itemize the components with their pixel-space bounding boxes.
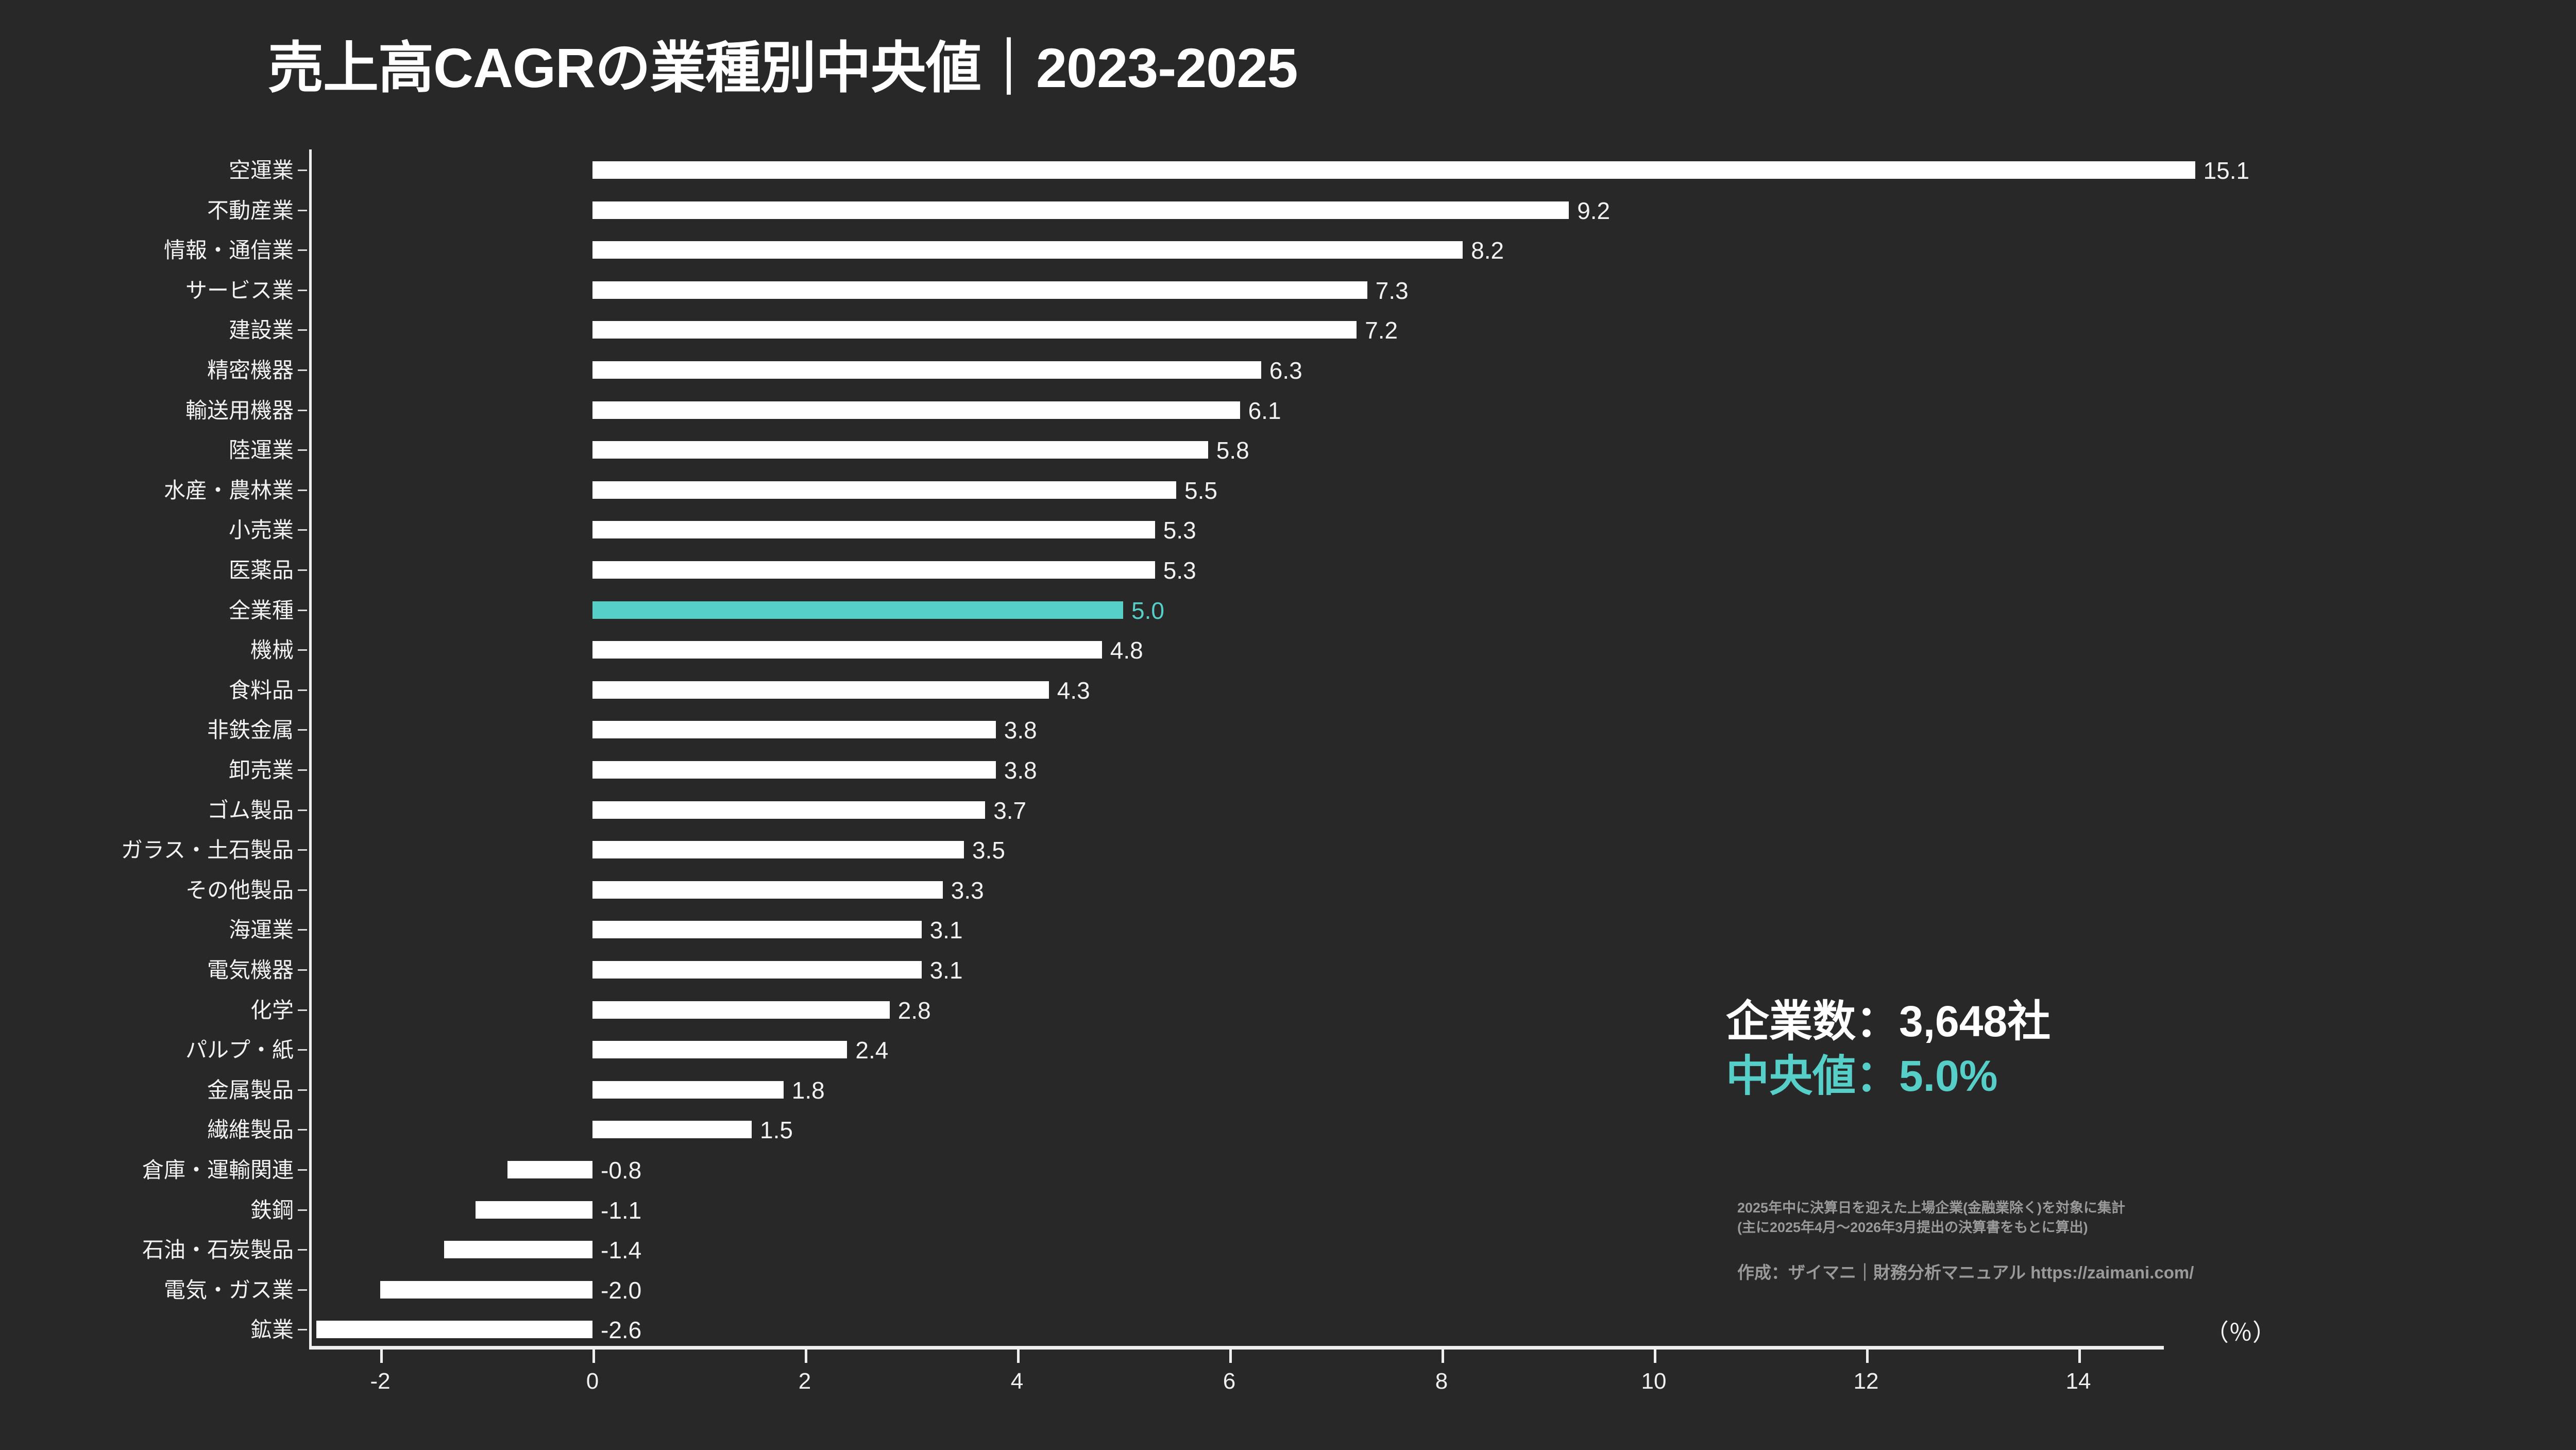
category-label: サービス業 bbox=[0, 271, 294, 311]
x-tick-mark bbox=[805, 1350, 807, 1363]
y-tick-mark bbox=[298, 449, 307, 451]
bar-value-label: 3.1 bbox=[930, 958, 963, 982]
bar-value-label: -2.6 bbox=[601, 1318, 641, 1342]
bar bbox=[592, 241, 1463, 259]
bar-value-label: 3.3 bbox=[951, 879, 984, 902]
bar-value-label: -1.1 bbox=[601, 1199, 641, 1222]
bar-value-label: 5.0 bbox=[1131, 599, 1164, 622]
bar-value-label: 5.3 bbox=[1163, 559, 1196, 582]
bar-value-label: 7.2 bbox=[1365, 318, 1398, 342]
bar-value-label: 5.8 bbox=[1216, 439, 1249, 462]
bar-value-label: 1.5 bbox=[760, 1118, 793, 1142]
bar-value-label: 15.1 bbox=[2204, 159, 2250, 182]
y-tick-mark bbox=[298, 849, 307, 851]
bar bbox=[592, 1041, 847, 1058]
y-tick-mark bbox=[298, 210, 307, 211]
y-tick-mark bbox=[298, 969, 307, 971]
category-label: 食料品 bbox=[0, 670, 294, 711]
bar bbox=[592, 401, 1240, 419]
bar-value-label: 3.8 bbox=[1004, 758, 1037, 782]
credit-line: 作成：ザイマニ｜財務分析マニュアル https://zaimani.com/ bbox=[1737, 1259, 2194, 1284]
y-tick-mark bbox=[298, 769, 307, 771]
y-tick-mark bbox=[298, 889, 307, 891]
bar-value-label: 2.4 bbox=[855, 1038, 888, 1062]
y-tick-mark bbox=[298, 329, 307, 331]
bar-row: 卸売業3.8 bbox=[0, 750, 2576, 790]
bar-value-label: 3.8 bbox=[1004, 718, 1037, 742]
category-label: パルプ・紙 bbox=[0, 1030, 294, 1070]
y-tick-mark bbox=[298, 569, 307, 571]
y-tick-mark bbox=[298, 529, 307, 531]
bar bbox=[592, 321, 1357, 339]
bar bbox=[507, 1161, 592, 1178]
bar-row: 医薬品5.3 bbox=[0, 550, 2576, 591]
bar-row: 不動産業9.2 bbox=[0, 191, 2576, 231]
bar-row: 海運業3.1 bbox=[0, 910, 2576, 950]
bar-row: ガラス・土石製品3.5 bbox=[0, 830, 2576, 870]
x-tick-label: 14 bbox=[2037, 1369, 2120, 1394]
x-tick-label: 2 bbox=[764, 1369, 846, 1394]
bar-value-label: 4.8 bbox=[1110, 638, 1143, 662]
y-tick-mark bbox=[298, 1169, 307, 1171]
bar-value-label: 8.2 bbox=[1471, 239, 1504, 262]
category-label: 精密機器 bbox=[0, 350, 294, 391]
bar-row: 全業種5.0 bbox=[0, 591, 2576, 631]
x-tick-mark bbox=[592, 1350, 595, 1363]
y-tick-mark bbox=[298, 1249, 307, 1251]
category-label: 情報・通信業 bbox=[0, 230, 294, 271]
bar-value-label: -2.0 bbox=[601, 1278, 641, 1302]
bar bbox=[592, 641, 1102, 659]
bar bbox=[592, 681, 1049, 699]
bar-value-label: 1.8 bbox=[792, 1078, 825, 1102]
bar bbox=[592, 201, 1569, 219]
category-label: 不動産業 bbox=[0, 191, 294, 231]
bar-row: 機械4.8 bbox=[0, 630, 2576, 670]
y-tick-mark bbox=[298, 249, 307, 251]
y-tick-mark bbox=[298, 810, 307, 811]
bar-value-label: 6.1 bbox=[1248, 399, 1281, 423]
bar-row: 情報・通信業8.2 bbox=[0, 230, 2576, 271]
x-tick-mark bbox=[1442, 1350, 1444, 1363]
bar-row: 小売業5.3 bbox=[0, 510, 2576, 550]
category-label: 空運業 bbox=[0, 150, 294, 191]
bar-row: ゴム製品3.7 bbox=[0, 790, 2576, 831]
bar-row: 精密機器6.3 bbox=[0, 350, 2576, 391]
median-stat: 中央値：5.0% bbox=[1726, 1052, 2473, 1100]
category-label: 石油・石炭製品 bbox=[0, 1230, 294, 1270]
category-label: 鉄鋼 bbox=[0, 1190, 294, 1230]
category-label: 輸送用機器 bbox=[0, 391, 294, 431]
bar bbox=[476, 1201, 592, 1219]
bar-value-label: 3.5 bbox=[972, 838, 1005, 862]
bar-value-label: 3.1 bbox=[930, 918, 963, 942]
y-tick-mark bbox=[298, 1329, 307, 1330]
bar bbox=[592, 441, 1208, 459]
bar bbox=[592, 1121, 752, 1138]
category-label: その他製品 bbox=[0, 870, 294, 911]
category-label: 金属製品 bbox=[0, 1070, 294, 1110]
bar bbox=[592, 801, 985, 819]
bar bbox=[592, 921, 922, 938]
bar-row: 鉄鋼-1.1 bbox=[0, 1190, 2576, 1230]
x-tick-mark bbox=[1654, 1350, 1656, 1363]
summary-stats: 企業数：3,648社 中央値：5.0% bbox=[1726, 997, 2473, 1100]
bar-row: 非鉄金属3.8 bbox=[0, 710, 2576, 750]
bar bbox=[592, 961, 922, 979]
y-tick-mark bbox=[298, 929, 307, 931]
bar-value-label: -0.8 bbox=[601, 1158, 641, 1182]
x-tick-mark bbox=[1229, 1350, 1232, 1363]
category-label: 電気・ガス業 bbox=[0, 1270, 294, 1310]
bar-row: 輸送用機器6.1 bbox=[0, 391, 2576, 431]
y-tick-mark bbox=[298, 610, 307, 611]
bar-row: 鉱業-2.6 bbox=[0, 1310, 2576, 1350]
bar-row: 倉庫・運輸関連-0.8 bbox=[0, 1150, 2576, 1190]
bar-value-label: 7.3 bbox=[1376, 279, 1409, 302]
bar-row: 繊維製品1.5 bbox=[0, 1110, 2576, 1150]
y-tick-mark bbox=[298, 1009, 307, 1011]
category-label: 建設業 bbox=[0, 310, 294, 350]
x-tick-label: 6 bbox=[1188, 1369, 1270, 1394]
bar bbox=[592, 761, 996, 779]
bar bbox=[592, 281, 1367, 299]
x-tick-mark bbox=[2078, 1350, 2081, 1363]
bar bbox=[592, 561, 1155, 579]
y-tick-mark bbox=[298, 649, 307, 651]
category-label: 全業種 bbox=[0, 591, 294, 631]
y-tick-mark bbox=[298, 729, 307, 731]
bar bbox=[592, 521, 1155, 538]
bar bbox=[592, 1081, 784, 1099]
bar-row: 食料品4.3 bbox=[0, 670, 2576, 711]
bar-row: 水産・農林業5.5 bbox=[0, 470, 2576, 511]
y-tick-mark bbox=[298, 689, 307, 691]
bar-value-label: 5.3 bbox=[1163, 518, 1196, 542]
y-tick-mark bbox=[298, 490, 307, 491]
bar bbox=[592, 721, 996, 738]
bar-row: 建設業7.2 bbox=[0, 310, 2576, 350]
x-tick-mark bbox=[1866, 1350, 1869, 1363]
x-tick-label: 4 bbox=[976, 1369, 1058, 1394]
category-label: 電気機器 bbox=[0, 950, 294, 990]
category-label: 繊維製品 bbox=[0, 1110, 294, 1150]
methodology-note: 2025年中に決算日を迎えた上場企業(金融業除く)を対象に集計 (主に2025年… bbox=[1737, 1198, 2125, 1238]
bar bbox=[444, 1241, 592, 1258]
bar bbox=[316, 1321, 592, 1338]
category-label: 非鉄金属 bbox=[0, 710, 294, 750]
y-tick-mark bbox=[298, 369, 307, 371]
x-tick-mark bbox=[380, 1350, 383, 1363]
bar-row: 電気機器3.1 bbox=[0, 950, 2576, 990]
bar-row: サービス業7.3 bbox=[0, 271, 2576, 311]
bar-row: 陸運業5.8 bbox=[0, 430, 2576, 470]
x-tick-mark bbox=[1017, 1350, 1020, 1363]
note-line-1: 2025年中に決算日を迎えた上場企業(金融業除く)を対象に集計 bbox=[1737, 1198, 2125, 1218]
bar bbox=[380, 1281, 592, 1299]
bar-value-label: -1.4 bbox=[601, 1238, 641, 1262]
category-label: 鉱業 bbox=[0, 1310, 294, 1350]
bar-highlight bbox=[592, 601, 1123, 619]
category-label: 海運業 bbox=[0, 910, 294, 950]
y-tick-mark bbox=[298, 290, 307, 291]
x-tick-label: 8 bbox=[1400, 1369, 1483, 1394]
bar bbox=[592, 841, 964, 858]
x-tick-label: 12 bbox=[1825, 1369, 1907, 1394]
category-label: 医薬品 bbox=[0, 550, 294, 591]
y-tick-mark bbox=[298, 1209, 307, 1211]
x-tick-label: -2 bbox=[339, 1369, 421, 1394]
bar-value-label: 3.7 bbox=[993, 799, 1026, 822]
bar-value-label: 5.5 bbox=[1184, 479, 1217, 502]
bar bbox=[592, 361, 1261, 379]
category-label: 卸売業 bbox=[0, 750, 294, 790]
y-tick-mark bbox=[298, 170, 307, 171]
category-label: ゴム製品 bbox=[0, 790, 294, 831]
category-label: 陸運業 bbox=[0, 430, 294, 470]
y-tick-mark bbox=[298, 1049, 307, 1051]
note-line-2: (主に2025年4月〜2026年3月提出の決算書をもとに算出) bbox=[1737, 1218, 2125, 1237]
category-label: 倉庫・運輸関連 bbox=[0, 1150, 294, 1190]
bar-row: 空運業15.1 bbox=[0, 150, 2576, 191]
y-tick-mark bbox=[298, 1089, 307, 1091]
bar-chart-plot: 空運業15.1不動産業9.2情報・通信業8.2サービス業7.3建設業7.2精密機… bbox=[0, 0, 2576, 1450]
category-label: 機械 bbox=[0, 630, 294, 670]
x-tick-label: 10 bbox=[1613, 1369, 1695, 1394]
bar-value-label: 4.3 bbox=[1057, 679, 1090, 702]
bar-value-label: 6.3 bbox=[1269, 359, 1302, 382]
y-tick-mark bbox=[298, 1129, 307, 1131]
bar-value-label: 9.2 bbox=[1577, 199, 1610, 223]
bar bbox=[592, 881, 943, 899]
bar-row: その他製品3.3 bbox=[0, 870, 2576, 911]
category-label: ガラス・土石製品 bbox=[0, 830, 294, 870]
chart-page: 売上高CAGRの業種別中央値｜2023-2025 空運業15.1不動産業9.2情… bbox=[0, 0, 2576, 1450]
category-label: 化学 bbox=[0, 990, 294, 1031]
bar bbox=[592, 1001, 890, 1019]
category-label: 水産・農林業 bbox=[0, 470, 294, 511]
x-tick-label: 0 bbox=[551, 1369, 634, 1394]
category-label: 小売業 bbox=[0, 510, 294, 550]
x-axis-unit-label: （％） bbox=[2205, 1314, 2276, 1348]
y-tick-mark bbox=[298, 410, 307, 411]
bar bbox=[592, 161, 2195, 179]
bar-value-label: 2.8 bbox=[898, 999, 931, 1022]
bar bbox=[592, 481, 1176, 499]
company-count-stat: 企業数：3,648社 bbox=[1726, 997, 2473, 1046]
y-tick-mark bbox=[298, 1289, 307, 1291]
